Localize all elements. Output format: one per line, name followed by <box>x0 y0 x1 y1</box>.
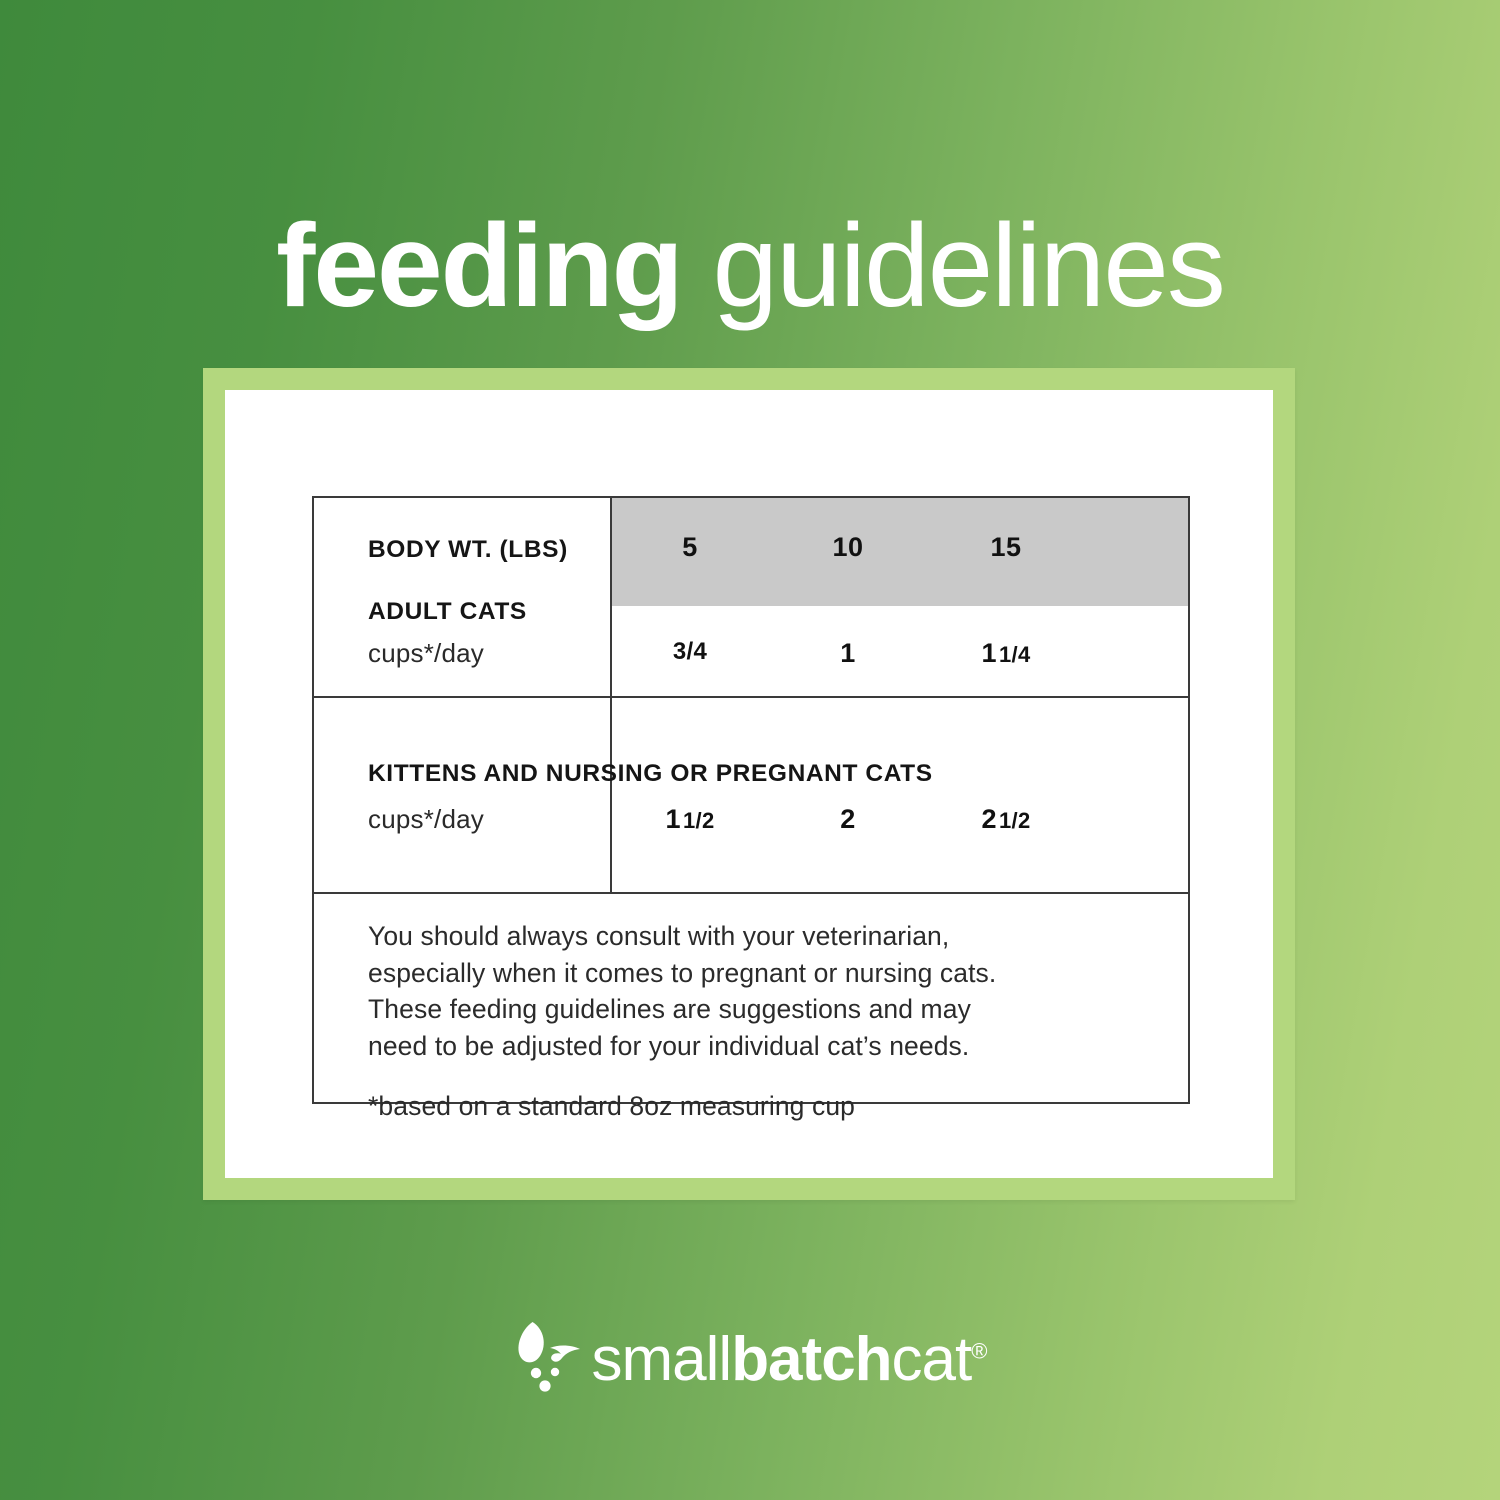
disclaimer-line-3: These feeding guidelines are suggestions… <box>368 991 1148 1028</box>
page-background: feeding guidelines BODY WT. (LBS) 5 10 1… <box>0 0 1500 1500</box>
page-title: feeding guidelines <box>0 207 1500 325</box>
adult-cats-value-2: 1 <box>768 638 928 669</box>
adult-cats-units: cups*/day <box>368 638 484 669</box>
adult-cats-values: 3/4 1 11/4 <box>610 638 1188 678</box>
brand-wordmark: smallbatchcat® <box>592 1329 987 1391</box>
body-weight-value-10: 10 <box>768 532 928 563</box>
body-weight-value-15: 15 <box>926 532 1086 563</box>
page-title-bold: feeding <box>276 200 682 332</box>
disclaimer-block: You should always consult with your vete… <box>368 918 1148 1125</box>
body-weight-values: 5 10 15 <box>610 532 1188 572</box>
table-row-divider-adult <box>314 696 1188 698</box>
disclaimer-line-4: need to be adjusted for your individual … <box>368 1028 1148 1065</box>
adult-cats-value-2-whole: 1 <box>840 638 856 668</box>
disclaimer-line-1: You should always consult with your vete… <box>368 918 1148 955</box>
kittens-value-3-whole: 2 <box>981 804 997 834</box>
adult-cats-value-1: 3/4 <box>610 638 770 666</box>
adult-cats-value-3-whole: 1 <box>981 638 997 668</box>
body-weight-label: BODY WT. (LBS) <box>368 536 568 564</box>
kittens-value-2-whole: 2 <box>840 804 856 834</box>
feeding-table: BODY WT. (LBS) 5 10 15 ADULT CATS cups*/… <box>312 496 1190 1104</box>
kittens-values: 11/2 2 21/2 <box>610 804 1188 844</box>
measuring-cup-note: *based on a standard 8oz measuring cup <box>368 1088 1148 1125</box>
adult-cats-value-3-fraction: 1/4 <box>999 642 1030 667</box>
feeding-guidelines-card: BODY WT. (LBS) 5 10 15 ADULT CATS cups*/… <box>203 368 1295 1200</box>
kittens-value-2: 2 <box>768 804 928 835</box>
kittens-value-1: 11/2 <box>610 804 770 835</box>
body-weight-value-5: 5 <box>610 532 770 563</box>
brand-part-batch: batch <box>731 1325 891 1394</box>
kittens-value-3-fraction: 1/2 <box>999 808 1030 833</box>
page-title-light: guidelines <box>682 200 1224 332</box>
kittens-value-3: 21/2 <box>926 804 1086 835</box>
disclaimer-line-2: especially when it comes to pregnant or … <box>368 955 1148 992</box>
adult-cats-value-1-fraction: 3/4 <box>673 638 707 665</box>
table-row-divider-kitten <box>314 892 1188 894</box>
kittens-units: cups*/day <box>368 804 484 835</box>
adult-cats-label: ADULT CATS <box>368 598 527 626</box>
registered-trademark-symbol: ® <box>971 1338 986 1363</box>
adult-cats-value-3: 11/4 <box>926 638 1086 669</box>
kittens-label: KITTENS AND NURSING OR PREGNANT CATS <box>368 760 933 788</box>
brand-part-cat: cat <box>892 1325 972 1394</box>
card-inner-panel: BODY WT. (LBS) 5 10 15 ADULT CATS cups*/… <box>225 390 1273 1178</box>
brand-part-small: small <box>592 1325 732 1394</box>
leaf-sprout-icon <box>514 1318 586 1402</box>
kittens-value-1-whole: 1 <box>665 804 681 834</box>
brand-logo: smallbatchcat® <box>0 1318 1500 1402</box>
kittens-value-1-fraction: 1/2 <box>683 808 714 833</box>
